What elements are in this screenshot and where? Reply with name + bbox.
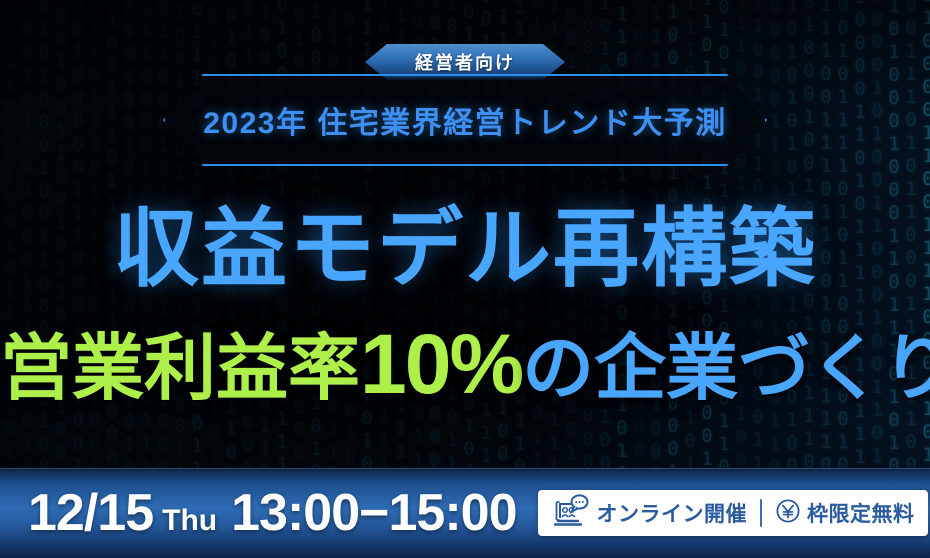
headline-primary: 収益モデル再構築 xyxy=(0,206,930,292)
event-title-text: 2023年 住宅業界経営トレンド大予測 xyxy=(163,74,767,166)
headline-secondary-percent: 10% xyxy=(360,317,522,411)
headline-secondary-part1: 営業利益率 xyxy=(0,329,360,409)
webinar-banner: 1010011100010010111011010001110110111001… xyxy=(0,0,930,558)
event-title-frame: 2023年 住宅業界経営トレンド大予測 xyxy=(163,74,767,166)
event-weekday: Thu xyxy=(162,504,217,538)
target-audience-label: 経営者向け xyxy=(415,49,515,75)
online-meeting-icon xyxy=(552,494,590,533)
yen-circle-icon xyxy=(775,498,801,529)
event-info-box: オンライン開催 枠限定無料 xyxy=(538,490,928,536)
info-label-free: 枠限定無料 xyxy=(807,498,915,528)
event-date: 12/15 xyxy=(28,483,153,543)
event-datetime: 12/15 Thu 13:00−15:00 xyxy=(28,483,516,543)
info-divider xyxy=(760,499,762,527)
info-label-online: オンライン開催 xyxy=(596,498,747,528)
event-time: 13:00−15:00 xyxy=(231,483,516,543)
info-item-online: オンライン開催 xyxy=(552,494,747,533)
info-item-free: 枠限定無料 xyxy=(775,498,915,529)
headline-secondary-part3: の企業づくり xyxy=(522,329,930,409)
headline-secondary: 営業利益率10%の企業づくり xyxy=(0,322,930,406)
bottom-info-bar: 12/15 Thu 13:00−15:00 xyxy=(0,468,930,558)
